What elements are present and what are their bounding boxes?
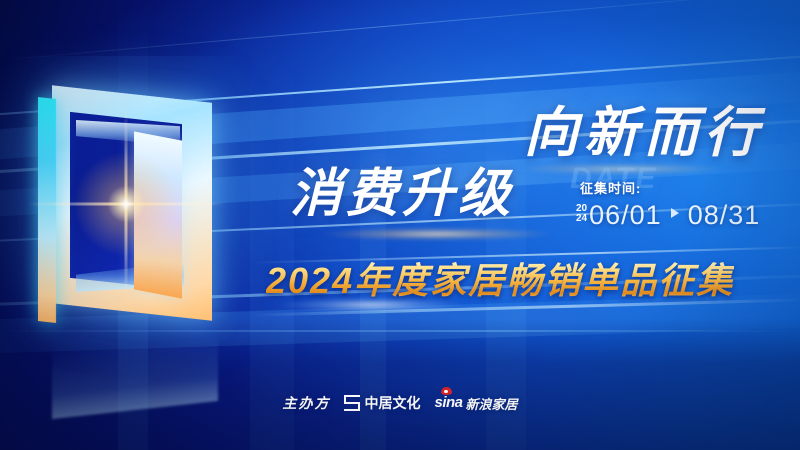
gold-bar-flare — [282, 298, 462, 312]
date-start: 06/01 — [589, 200, 662, 230]
organizer-sina: sina 新浪家居 — [434, 394, 517, 412]
year-bottom: 24 — [576, 214, 587, 224]
door-portal-artwork — [30, 86, 240, 396]
date-value-row: 20 24 06/01 08/31 — [576, 200, 760, 230]
organizer-zhongju-name: 中居文化 — [364, 393, 420, 413]
headline-sub: 消费升级 — [290, 166, 514, 222]
year-stack: 20 24 — [576, 204, 587, 226]
sina-wordmark: sina — [434, 394, 462, 411]
zhongju-logo-icon — [344, 395, 360, 411]
organizer-zhongju: 中居文化 — [344, 393, 420, 413]
sina-eye-icon — [441, 387, 452, 395]
light-burst-icon — [66, 144, 186, 264]
date-label: 征集时间: — [580, 178, 641, 197]
headline-main: 向新而行 — [524, 104, 764, 162]
promo-banner: 向新而行 消费升级 DATE 征集时间: 20 24 06/01 08/31 2… — [0, 0, 800, 450]
organizer-label: 主办方 — [282, 393, 330, 413]
door-left-edge — [38, 97, 56, 323]
sina-logo: sina — [434, 394, 462, 412]
date-end: 08/31 — [688, 200, 761, 230]
date-block: DATE 征集时间: 20 24 06/01 08/31 — [568, 166, 793, 238]
date-separator-icon — [671, 208, 679, 218]
subheadline-underglow — [322, 228, 552, 240]
organizer-sina-name: 新浪家居 — [466, 397, 518, 412]
gold-subtitle-bar: 2024年度家居畅销单品征集 2024年度家居畅销单品征集 — [258, 252, 788, 312]
footer-organizers: 主办方 中居文化 sina 新浪家居 — [0, 390, 800, 416]
